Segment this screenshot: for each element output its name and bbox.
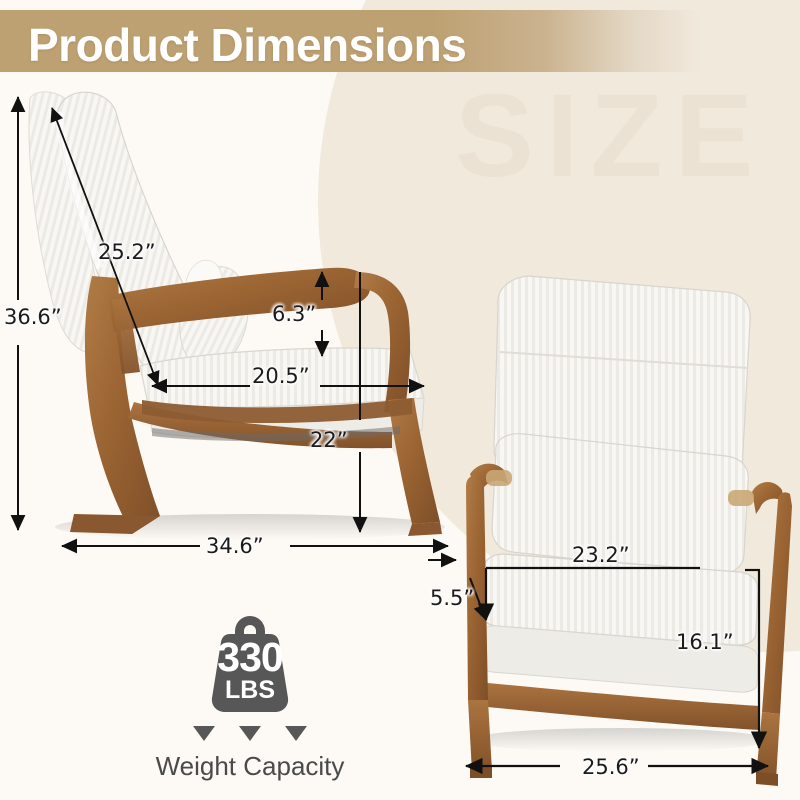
- weight-capacity-block: 330 LBS Weight Capacity: [120, 612, 380, 792]
- dim-seat-depth: 20.5”: [252, 364, 310, 388]
- chair-front-view-graphic: [466, 276, 792, 786]
- weight-icon: 330 LBS: [190, 612, 310, 722]
- arrow-triangles: [120, 726, 380, 741]
- dim-cushion-thickness: 5.5”: [430, 586, 474, 610]
- down-triangle-icon: [239, 726, 261, 741]
- header-banner: Product Dimensions: [0, 10, 700, 72]
- weight-unit: LBS: [190, 676, 310, 705]
- dim-overall-height: 36.6”: [4, 305, 62, 329]
- down-triangle-icon: [285, 726, 307, 741]
- weight-capacity-caption: Weight Capacity: [120, 751, 380, 782]
- dim-backrest-height: 25.2”: [98, 240, 156, 264]
- weight-number: 330: [190, 634, 310, 681]
- dim-overall-depth: 34.6”: [206, 534, 264, 558]
- down-triangle-icon: [193, 726, 215, 741]
- dim-armrest-to-seat: 6.3”: [272, 302, 316, 326]
- product-dimensions-page: SIZE Product Dimensions: [0, 0, 800, 800]
- chair-side-view-graphic: [29, 92, 445, 540]
- dim-armrest-height: 22”: [310, 428, 348, 452]
- dim-seat-width: 23.2”: [572, 543, 630, 567]
- dim-overall-width: 25.6”: [582, 755, 640, 779]
- dim-seat-height: 16.1”: [676, 630, 734, 654]
- page-title: Product Dimensions: [28, 18, 466, 72]
